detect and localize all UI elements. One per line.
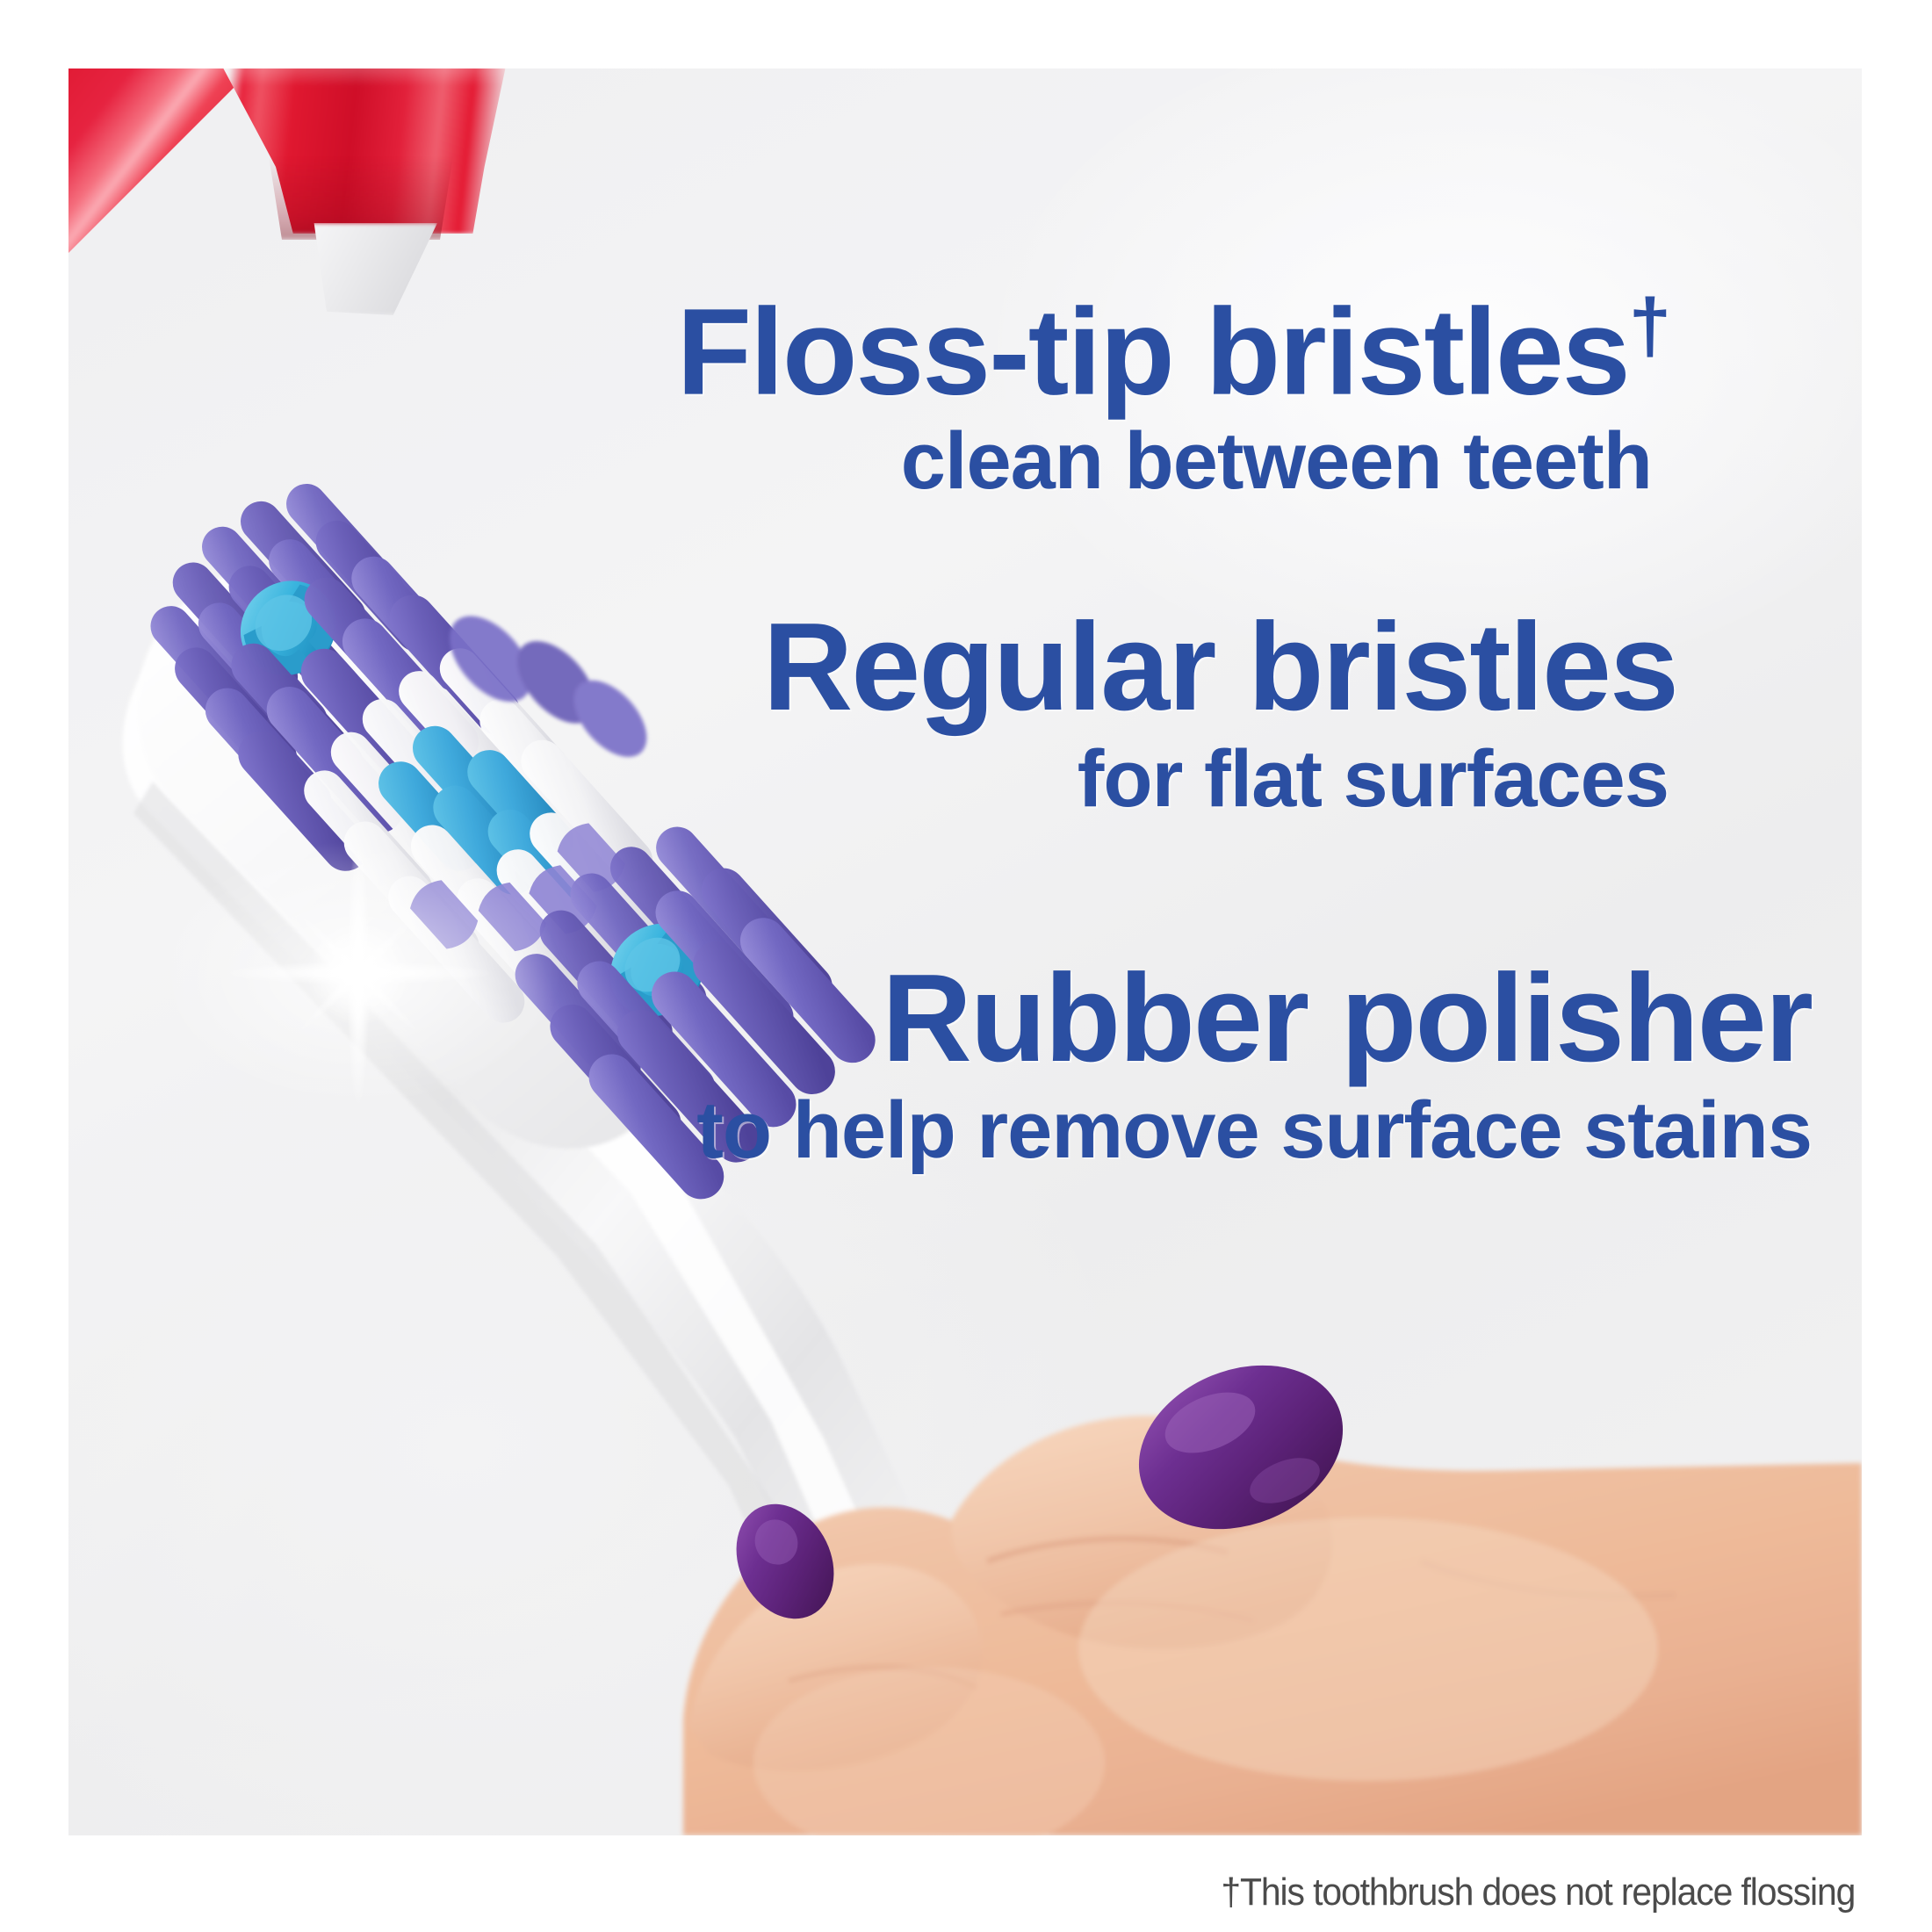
- feature-headline-regular-bristles: Regular bristles: [68, 604, 1677, 732]
- footnote-disclaimer: †This toothbrush does not replace flossi…: [1221, 1871, 1855, 1914]
- feature-block-rubber-polisher: Rubber polisher to help remove surface s…: [68, 955, 1812, 1178]
- product-feature-ad: Floss-tip bristles† clean between teeth …: [0, 0, 1932, 1932]
- feature-subline-floss-tip: clean between teeth: [68, 415, 1671, 508]
- feature-subline-rubber-polisher: to help remove surface stains: [68, 1083, 1812, 1179]
- feature-block-regular-bristles: Regular bristles for flat surfaces: [68, 604, 1677, 826]
- feature-headline-floss-tip: Floss-tip bristles†: [68, 288, 1671, 415]
- feature-headline-rubber-polisher: Rubber polisher: [68, 955, 1812, 1083]
- feature-block-floss-tip: Floss-tip bristles† clean between teeth: [68, 288, 1671, 508]
- dagger-marker: †: [1629, 284, 1671, 369]
- feature-subline-regular-bristles: for flat surfaces: [68, 732, 1677, 827]
- ad-canvas: Floss-tip bristles† clean between teeth …: [68, 68, 1862, 1835]
